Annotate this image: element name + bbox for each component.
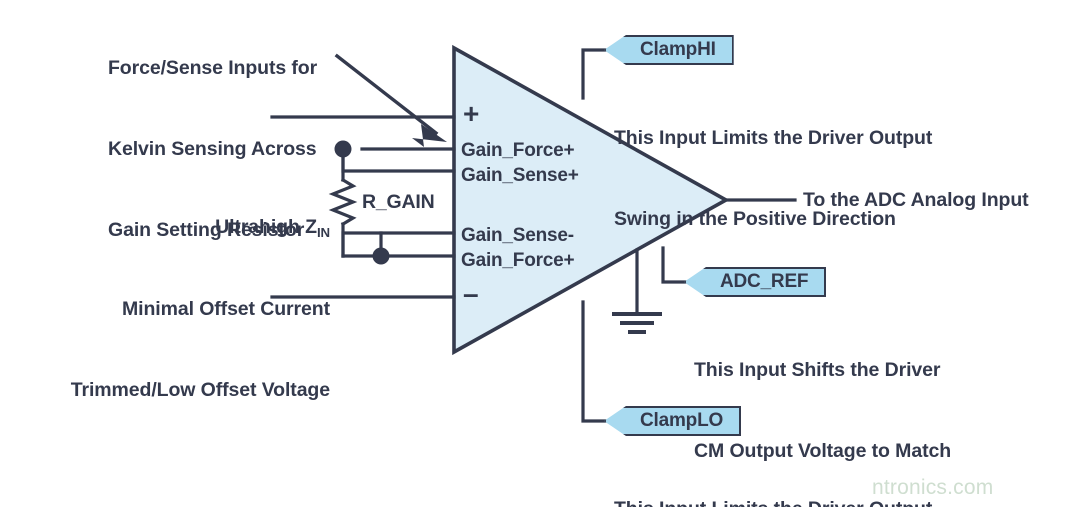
diagram-canvas: Force/Sense Inputs for Kelvin Sensing Ac… xyxy=(0,0,1073,507)
spec-offset-voltage: Trimmed/Low Offset Voltage xyxy=(20,377,330,404)
site-watermark: ntronics.com xyxy=(872,476,993,500)
kelvin-annotation-line-1: Force/Sense Inputs for xyxy=(108,55,317,82)
pin-label-gain-force-plus: Gain_Force+ xyxy=(461,138,574,163)
adcref-description-line-1: This Input Shifts the Driver xyxy=(694,357,951,384)
badge-clamplo[interactable]: ClampLO xyxy=(604,406,741,436)
pin-label-gain-sense-plus: Gain_Sense+ xyxy=(461,163,579,188)
junction-dot-bottom xyxy=(373,248,390,265)
spec-offset-current: Minimal Offset Current xyxy=(20,296,330,323)
gain-sense-minus-wire xyxy=(381,233,454,256)
kelvin-annotation-arrow xyxy=(337,56,436,133)
resistor-symbol xyxy=(333,180,353,224)
spec-ultrahigh-zin-text: Ultrahigh Z xyxy=(215,216,317,238)
input-specs-annotation: Ultrahigh ZIN Minimal Offset Current Tri… xyxy=(20,160,330,458)
gain-force-plus-lower-wire xyxy=(343,233,454,256)
clamphi-description-line-2: Swing in the Positive Direction xyxy=(614,206,932,233)
badge-adcref[interactable]: ADC_REF xyxy=(684,267,826,297)
spec-ultrahigh-zin: Ultrahigh ZIN xyxy=(20,214,330,242)
clamphi-wire xyxy=(583,50,608,98)
badge-clamphi[interactable]: ClampHI xyxy=(604,35,734,65)
pin-label-gain-sense-minus: Gain_Sense- xyxy=(461,223,574,248)
noninverting-input-sign: + xyxy=(463,98,479,130)
clamphi-description: This Input Limits the Driver Output Swin… xyxy=(614,71,932,287)
kelvin-annotation-line-2: Kelvin Sensing Across xyxy=(108,136,317,163)
inverting-input-sign: – xyxy=(463,278,479,310)
pin-label-gain-force-plus-lower: Gain_Force+ xyxy=(461,248,574,273)
spec-zin-subscript: IN xyxy=(317,225,330,240)
clamplo-wire xyxy=(583,302,608,421)
clamphi-description-line-1: This Input Limits the Driver Output xyxy=(614,125,932,152)
junction-dot-top xyxy=(335,141,352,158)
resistor-label: R_GAIN xyxy=(362,191,434,214)
gain-sense-plus-wire xyxy=(343,149,454,171)
